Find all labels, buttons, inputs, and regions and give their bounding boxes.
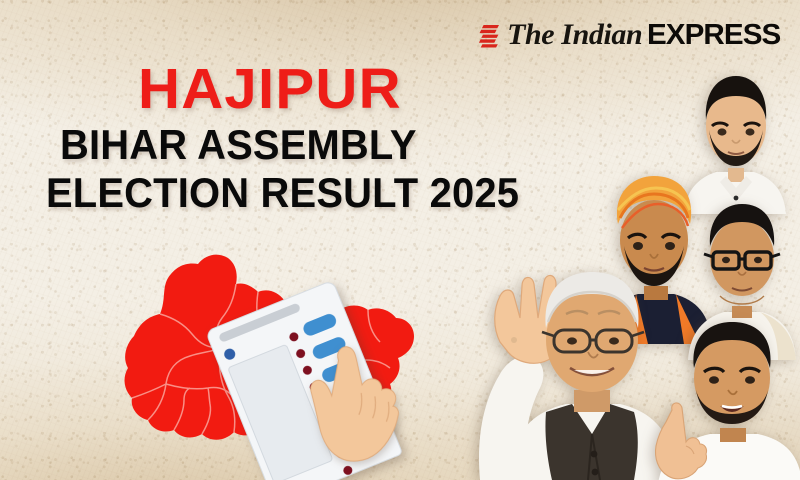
evm-lamp — [288, 331, 300, 343]
headline-line-2: BIHAR ASSEMBLY — [60, 124, 520, 167]
masthead-express: EXPRESS — [647, 21, 780, 50]
hand-pressing-button-icon — [294, 335, 411, 473]
headline-line-3: ELECTION RESULT 2025 — [46, 172, 519, 215]
headline-city: HAJIPUR — [138, 62, 552, 118]
headline-block: HAJIPUR BIHAR ASSEMBLY ELECTION RESULT 2… — [46, 62, 544, 215]
poster-canvas: The Indian EXPRESS HAJIPUR BIHAR ASSEMBL… — [0, 0, 800, 480]
indian-express-logo-icon — [478, 23, 500, 48]
portrait-tejashwi-yadav — [634, 316, 800, 480]
masthead-the-indian: The Indian — [507, 20, 642, 50]
indian-express-masthead[interactable]: The Indian EXPRESS — [478, 20, 778, 50]
